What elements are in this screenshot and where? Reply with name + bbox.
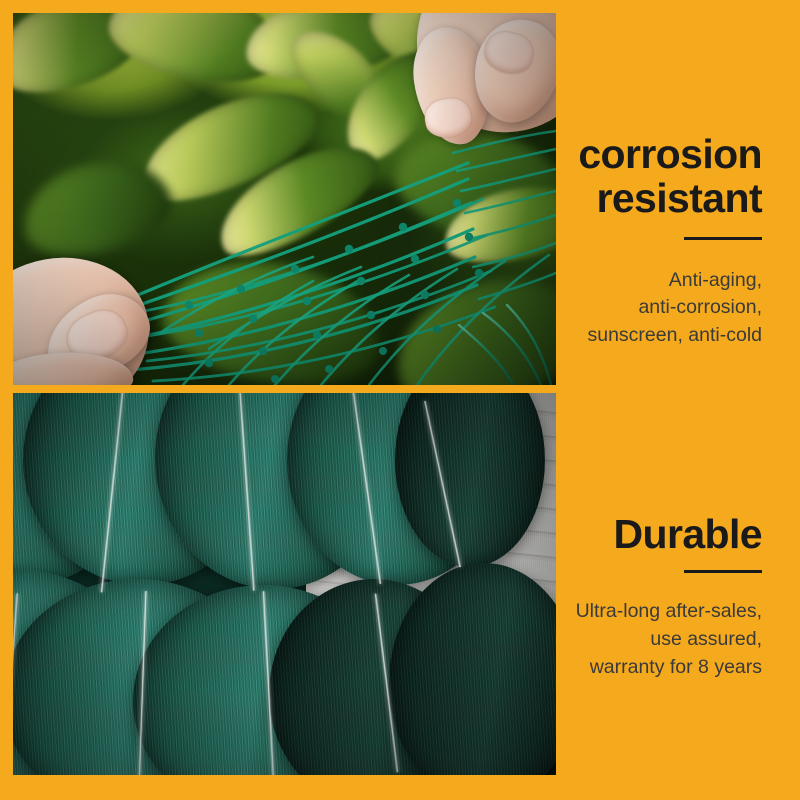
product-feature-poster: corrosionresistant Anti-aging, anti-corr… — [0, 0, 800, 800]
headline-corrosion-resistant: corrosionresistant — [402, 132, 762, 221]
headline-durable: Durable — [402, 512, 762, 556]
headline-divider — [684, 570, 762, 573]
feature-block-corrosion-resistant: corrosionresistant Anti-aging, anti-corr… — [402, 132, 762, 350]
headline-line-2: resistant — [596, 175, 762, 221]
subcopy-corrosion-resistant: Anti-aging, anti-corrosion, sunscreen, a… — [402, 267, 762, 350]
subcopy-durable: Ultra-long after-sales, use assured, war… — [402, 598, 762, 681]
headline-divider — [684, 237, 762, 240]
feature-block-durable: Durable Ultra-long after-sales, use assu… — [402, 512, 762, 681]
headline-line-1: corrosion — [578, 131, 762, 177]
